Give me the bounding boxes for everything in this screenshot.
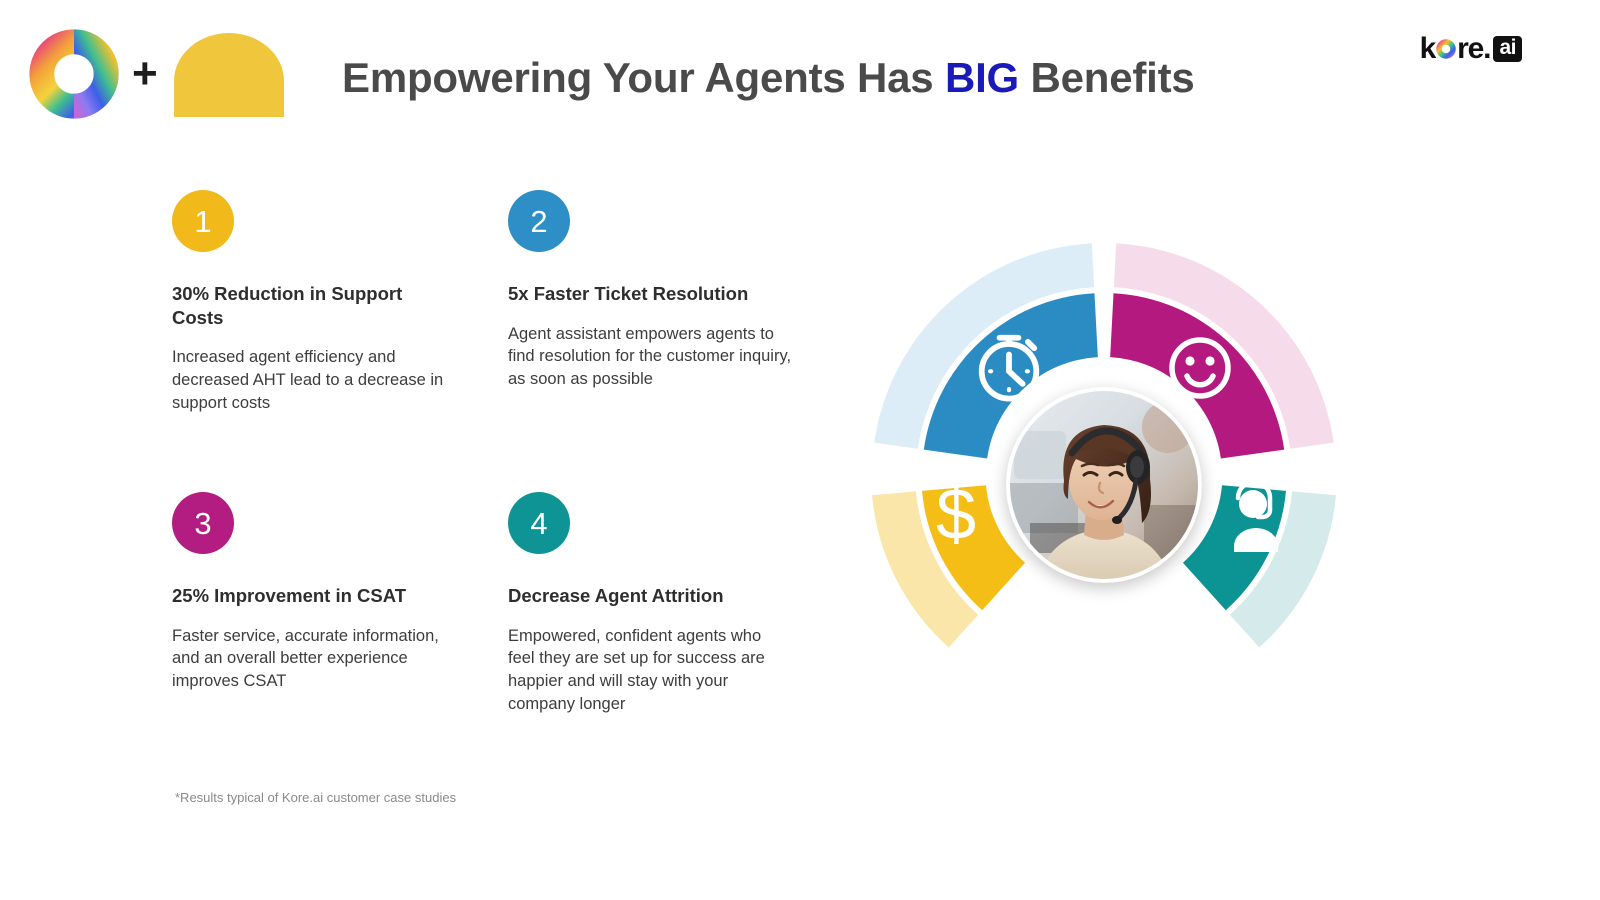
svg-text:$: $ xyxy=(936,475,976,555)
agent-photo xyxy=(1006,387,1202,583)
benefit-number-badge-3: 3 xyxy=(172,492,234,554)
benefit-card-4[interactable]: 4 Decrease Agent Attrition Empowered, co… xyxy=(508,492,792,715)
footnote: *Results typical of Kore.ai customer cas… xyxy=(175,790,456,805)
benefit-body-3: Faster service, accurate information, an… xyxy=(172,625,456,693)
page-header: + Empowering Your Agents Has BIG Benefit… xyxy=(0,0,1600,150)
benefit-heading-2: 5x Faster Ticket Resolution xyxy=(508,282,792,306)
dollar-icon: $ xyxy=(936,475,976,555)
page-title: Empowering Your Agents Has BIG Benefits xyxy=(342,54,1195,102)
benefit-number-badge-2: 2 xyxy=(508,190,570,252)
brand-marks: + xyxy=(28,28,288,120)
benefit-heading-1: 30% Reduction in Support Costs xyxy=(172,282,456,329)
benefits-row-top: 1 30% Reduction in Support Costs Increas… xyxy=(172,190,792,414)
benefit-number-badge-1: 1 xyxy=(172,190,234,252)
page-title-part-1: Empowering Your Agents Has xyxy=(342,54,945,101)
logo-text-k: k xyxy=(1420,34,1436,64)
benefit-heading-3: 25% Improvement in CSAT xyxy=(172,584,456,608)
benefits-donut-diagram: $ xyxy=(828,175,1428,655)
kore-gradient-ring-icon xyxy=(28,28,120,120)
logo-dot: . xyxy=(1483,34,1491,64)
agent-photo-illustration xyxy=(1006,387,1202,583)
benefit-body-1: Increased agent efficiency and decreased… xyxy=(172,346,456,414)
benefit-number-badge-4: 4 xyxy=(508,492,570,554)
yellow-dome-icon xyxy=(170,31,288,117)
logo-ai-badge: ai xyxy=(1493,36,1522,62)
benefit-card-3[interactable]: 3 25% Improvement in CSAT Faster service… xyxy=(172,492,456,715)
benefit-body-2: Agent assistant empowers agents to find … xyxy=(508,323,792,391)
page-title-part-2: Benefits xyxy=(1019,54,1195,101)
page-title-accent: BIG xyxy=(945,54,1019,101)
benefits-row-bottom: 3 25% Improvement in CSAT Faster service… xyxy=(172,492,792,715)
logo-text-re: re xyxy=(1457,34,1483,64)
kore-ai-logo: k re . ai xyxy=(1420,32,1522,66)
plus-symbol: + xyxy=(132,52,158,96)
benefit-card-2[interactable]: 2 5x Faster Ticket Resolution Agent assi… xyxy=(508,190,792,414)
benefit-card-1[interactable]: 1 30% Reduction in Support Costs Increas… xyxy=(172,190,456,414)
logo-gradient-o-icon xyxy=(1436,39,1456,59)
benefits-list: 1 30% Reduction in Support Costs Increas… xyxy=(172,190,792,715)
benefit-body-4: Empowered, confident agents who feel the… xyxy=(508,625,792,715)
benefit-heading-4: Decrease Agent Attrition xyxy=(508,584,792,608)
